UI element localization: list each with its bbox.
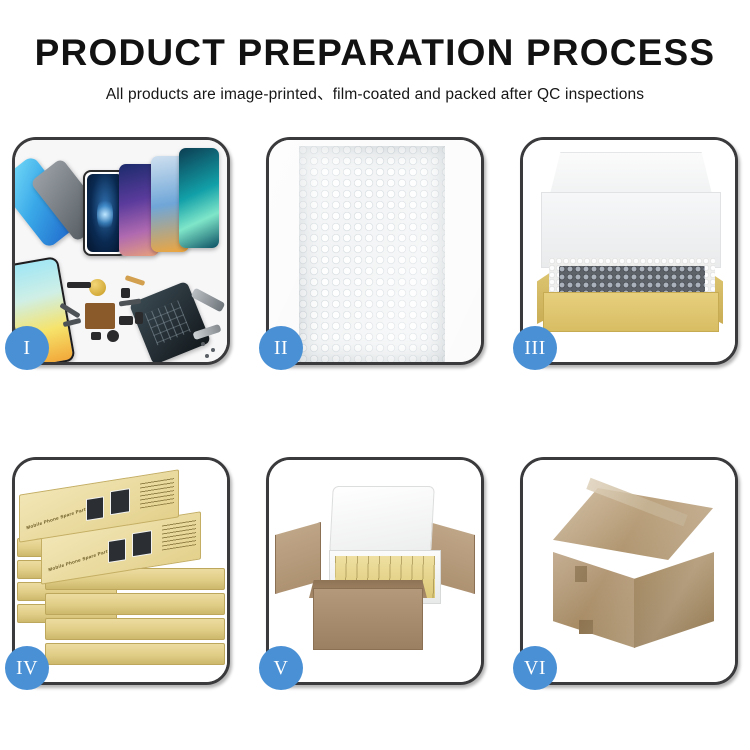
ic-chip-part <box>85 303 115 329</box>
page-subtitle: All products are image-printed、film-coat… <box>0 82 750 104</box>
process-step-2: II <box>266 137 484 365</box>
carton-seal-mark-2 <box>579 620 593 634</box>
earpiece-mesh-part <box>67 282 91 288</box>
box-spec-lines-2 <box>162 519 196 550</box>
step-badge-5: V <box>259 646 303 690</box>
carton-front-face <box>553 552 635 648</box>
stacked-box-edge-7 <box>45 618 225 640</box>
phone-screens-and-parts-illustration <box>15 140 227 362</box>
box-spec-lines-1 <box>140 477 174 508</box>
stacked-box-edge-6 <box>45 593 225 615</box>
bag-sheen-overlay <box>269 140 481 362</box>
page-title: PRODUCT PREPARATION PROCESS <box>0 34 750 73</box>
box-window-1a <box>86 496 104 521</box>
screw-part-1 <box>201 342 205 346</box>
step-badge-3: III <box>513 326 557 370</box>
step-badge-1: I <box>5 326 49 370</box>
box-back-panel <box>541 192 721 268</box>
step-6-image <box>523 460 735 682</box>
box-window-2b <box>132 530 152 557</box>
step-2-image <box>269 140 481 362</box>
page-header: PRODUCT PREPARATION PROCESS All products… <box>0 0 750 104</box>
process-step-1: I <box>12 137 230 365</box>
step-5-image <box>269 460 481 682</box>
box-label-text-2: Mobile Phone Spare Parts <box>48 548 111 572</box>
button-part <box>107 330 119 342</box>
bubble-wrapped-screen-illustration <box>269 140 481 362</box>
sealed-carton-illustration <box>523 460 735 682</box>
step-badge-2: II <box>259 326 303 370</box>
box-window-1b <box>110 488 130 515</box>
process-step-3: III <box>520 137 738 365</box>
teal-swirl-phone <box>179 148 219 248</box>
box-label-text-1: Mobile Phone Spare Parts <box>26 506 89 530</box>
step-1-image <box>15 140 227 362</box>
step-4-image: Mobile Phone Spare Parts Mobile Phone Sp… <box>15 460 227 682</box>
vibration-motor-part <box>89 279 106 296</box>
carton-body <box>313 588 423 650</box>
step-badge-6: VI <box>513 646 557 690</box>
carton-side-face <box>634 552 714 648</box>
box-front-panel <box>543 292 719 332</box>
gold-contact-part <box>125 275 146 286</box>
process-step-4: Mobile Phone Spare Parts Mobile Phone Sp… <box>12 457 230 685</box>
screw-part-3 <box>205 354 209 358</box>
process-step-grid: I II <box>12 137 738 685</box>
process-step-5: V <box>266 457 484 685</box>
box-window-2a <box>108 538 126 563</box>
step-badge-4: IV <box>5 646 49 690</box>
carton-with-foam-illustration <box>269 460 481 682</box>
screw-part-2 <box>211 348 215 352</box>
speaker-part <box>91 332 101 340</box>
stacked-retail-boxes-illustration: Mobile Phone Spare Parts Mobile Phone Sp… <box>15 460 227 682</box>
carton-seal-mark-1 <box>575 566 587 582</box>
camera-module-part <box>119 316 133 325</box>
step-3-image <box>523 140 735 362</box>
connector-part <box>135 312 143 324</box>
stacked-box-edge-8 <box>45 643 225 665</box>
small-chip-part <box>121 288 130 298</box>
process-step-6: VI <box>520 457 738 685</box>
open-kraft-box-illustration <box>523 140 735 362</box>
foam-container-lid <box>329 486 435 554</box>
